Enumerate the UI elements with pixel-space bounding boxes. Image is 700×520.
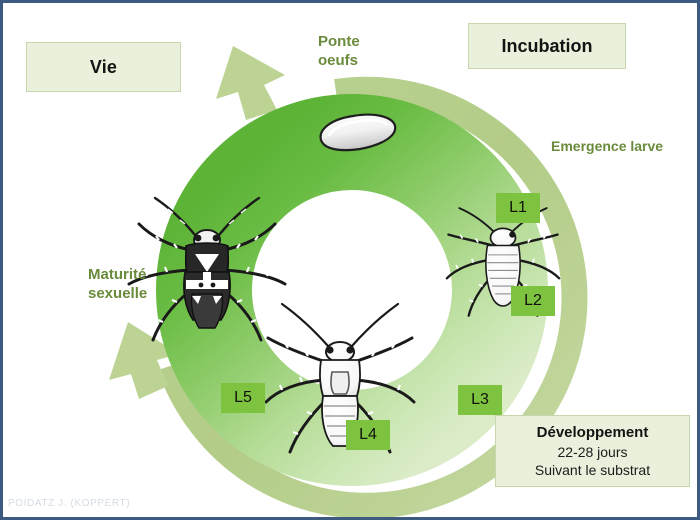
callout-developpement-duration: 22-28 jours <box>557 443 627 461</box>
stage-chip-l4: L4 <box>346 420 390 450</box>
stage-chip-l3: L3 <box>458 385 502 415</box>
callout-developpement: Développement 22-28 jours Suivant le sub… <box>495 415 690 487</box>
life-cycle-diagram: Vie Incubation Développement 22-28 jours… <box>0 0 700 520</box>
callout-developpement-note: Suivant le substrat <box>535 461 650 479</box>
callout-developpement-title: Développement <box>537 424 649 443</box>
callout-incubation: Incubation <box>468 23 626 69</box>
label-maturite-sexuelle: Maturité sexuelle <box>88 266 147 304</box>
watermark-credit: POIDATZ J. (KOPPERT) <box>8 498 130 509</box>
stage-chip-l1: L1 <box>496 193 540 223</box>
label-ponte-oeufs: Ponte oeufs <box>318 33 360 71</box>
callout-vie-title: Vie <box>90 57 117 78</box>
stage-chip-l5: L5 <box>221 383 265 413</box>
callout-incubation-title: Incubation <box>502 36 593 57</box>
callout-vie: Vie <box>26 42 181 92</box>
stage-chip-l2: L2 <box>511 286 555 316</box>
label-emergence-larve: Emergence larve <box>551 138 663 156</box>
